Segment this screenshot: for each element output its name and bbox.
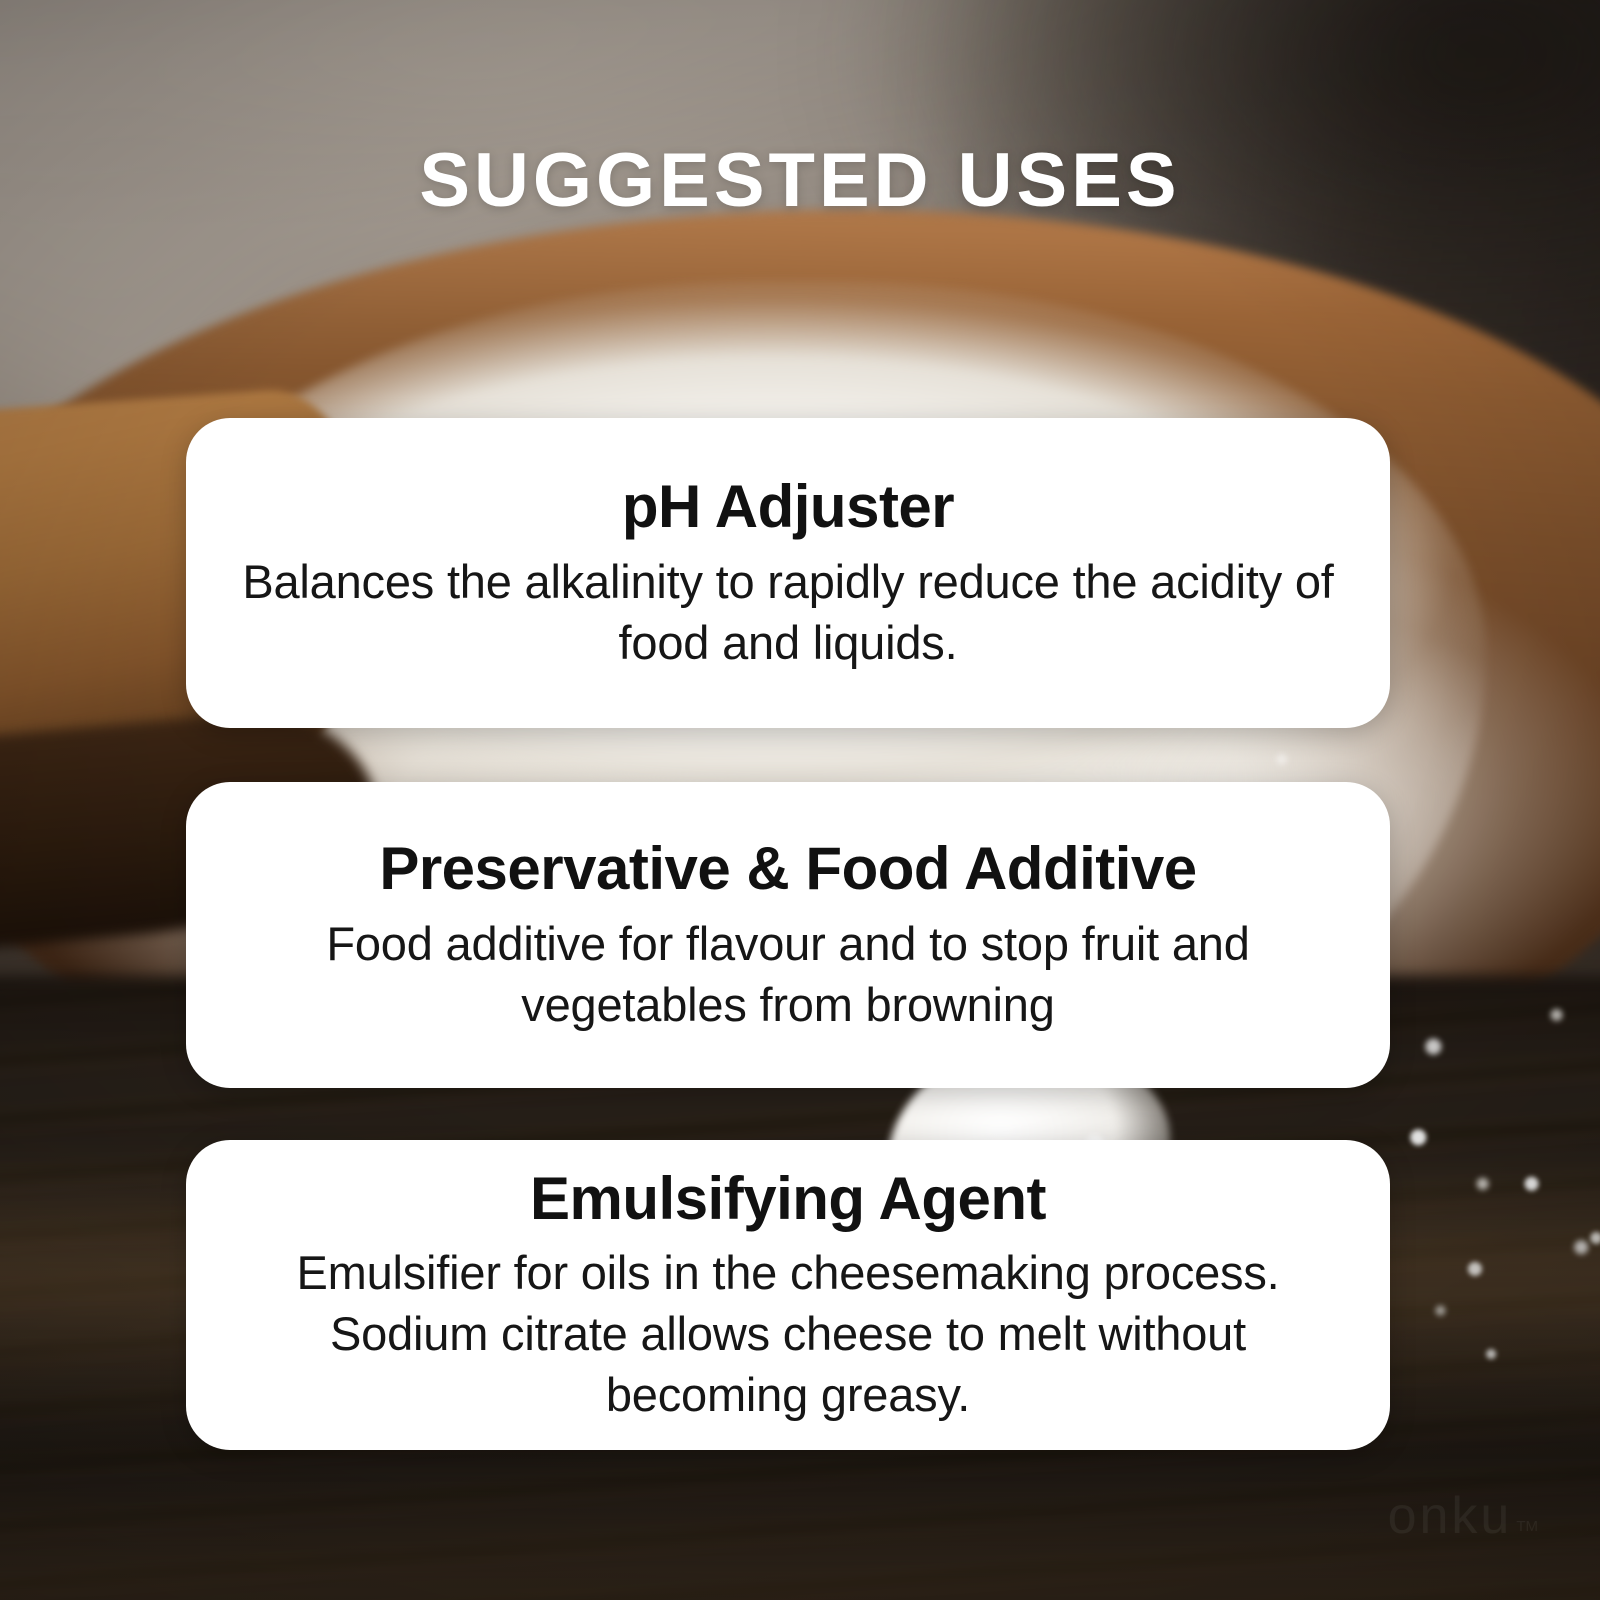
card-title: pH Adjuster [622,473,954,540]
brand-watermark: onku TM [1388,1490,1538,1542]
card-body: Emulsifier for oils in the cheesemaking … [232,1242,1344,1425]
suggested-use-card-preservative-food-additive: Preservative & Food Additive Food additi… [186,782,1390,1088]
trademark-symbol: TM [1516,1519,1538,1534]
suggested-use-card-emulsifying-agent: Emulsifying Agent Emulsifier for oils in… [186,1140,1390,1450]
infographic-canvas: SUGGESTED USES pH Adjuster Balances the … [0,0,1600,1600]
content-overlay: SUGGESTED USES pH Adjuster Balances the … [0,0,1600,1600]
brand-watermark-text: onku [1388,1490,1513,1542]
card-body: Food additive for flavour and to stop fr… [232,913,1344,1035]
card-title: Emulsifying Agent [530,1165,1046,1232]
card-title: Preservative & Food Additive [379,835,1196,902]
page-title: SUGGESTED USES [0,143,1600,219]
suggested-use-card-ph-adjuster: pH Adjuster Balances the alkalinity to r… [186,418,1390,728]
card-body: Balances the alkalinity to rapidly reduc… [232,551,1344,673]
